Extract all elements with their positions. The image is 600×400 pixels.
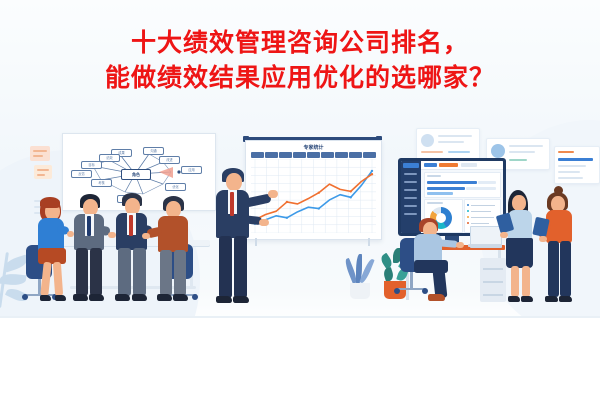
mindmap-node-3: 反馈 [71, 170, 92, 178]
woman-7-shoe-b [521, 296, 533, 302]
profile-card-center-avatar [491, 144, 505, 158]
title-line-2: 能做绩效结果应用优化的选哪家？ [0, 61, 600, 96]
board-header-cell [279, 152, 292, 158]
woman-7-leg-a [511, 266, 519, 297]
sticky-note-1-line-a [33, 150, 47, 152]
list-card-right-line-2 [558, 171, 580, 173]
woman-1-torso [38, 218, 64, 252]
woman-7-leg-b [522, 266, 530, 297]
chair-right-wheel-b [192, 294, 198, 300]
chair-left-wheel-a [22, 294, 28, 300]
man-2-hand [108, 232, 116, 238]
list-card-right-title [558, 151, 574, 153]
man-2-leg-a [76, 248, 88, 296]
man-4-shoe-a [157, 294, 172, 301]
profile-card-left-line-2 [438, 141, 464, 143]
sidebar-item-4[interactable] [404, 205, 417, 207]
woman-1-hand [67, 231, 74, 237]
profile-card-left-avatar [421, 134, 434, 147]
legend-dot-1 [467, 210, 469, 212]
progress-bar-0 [427, 181, 477, 184]
mindmap-node-2: 目标 [81, 161, 102, 169]
mindmap-node-7: 改进 [159, 156, 180, 164]
floor [0, 318, 600, 400]
desk-chair-wheel-a [394, 288, 400, 294]
page-title: 十大绩效管理咨询公司排名， 能做绩效结果应用优化的选哪家？ [0, 26, 600, 95]
list-card-right-bar [558, 158, 593, 161]
man-2-shoe-b [89, 294, 104, 301]
progress-bar-2 [427, 192, 453, 195]
sidebar-item-1[interactable] [404, 181, 417, 183]
desk-man-shoe [428, 294, 445, 301]
sidebar-item-3[interactable] [404, 197, 417, 199]
laptop-base [468, 244, 502, 247]
desktop-dashboard[interactable] [398, 158, 506, 236]
list-card-right-line-3 [558, 177, 583, 179]
sticky-note-1 [30, 146, 50, 161]
file-cabinet-line-1 [483, 268, 503, 270]
profile-card-left-line-3 [421, 151, 443, 153]
man-4-torso [158, 216, 188, 252]
man-3-tie [129, 215, 133, 236]
board-header-cell [321, 152, 334, 158]
woman-7-head [512, 195, 526, 211]
tab-overview[interactable] [424, 163, 437, 167]
mindmap-node-center: 角色 [121, 169, 151, 180]
tab-performance[interactable] [439, 163, 458, 167]
presenter-tie [230, 192, 234, 216]
legend-dot-3 [467, 222, 469, 224]
mindmap-arrow [159, 167, 173, 178]
presenter-head [226, 173, 242, 191]
man-4-hand [142, 233, 150, 239]
woman-1-hair-front [40, 197, 60, 208]
board-header-cell [265, 152, 278, 158]
man-3-shoe-b [132, 294, 147, 301]
man-4-leg-b [174, 250, 186, 296]
sidebar-item-2[interactable] [404, 189, 417, 191]
legend-line-2 [471, 217, 494, 218]
dashboard-logo [403, 163, 419, 168]
man-3-shoe-a [115, 294, 130, 301]
sticky-note-2-line-a [37, 169, 49, 171]
desk-chair-wheel-b [422, 288, 428, 294]
woman-8-leg-b [560, 241, 571, 297]
tab-detail[interactable] [461, 163, 477, 167]
presenter-shoe-b [233, 296, 249, 303]
donut-card-title [427, 202, 443, 204]
woman-8-shoe-a [545, 296, 558, 302]
list-card-right-line-1 [558, 165, 586, 167]
board-title: 专家统计 [246, 144, 381, 151]
man-3-leg-b [133, 248, 146, 296]
progress-bar-1 [427, 187, 465, 190]
sticky-note-1-line-b [33, 155, 43, 157]
board-header-cell [349, 152, 362, 158]
sidebar-item-0[interactable] [404, 173, 417, 175]
profile-card-center-line-2 [509, 151, 535, 153]
board-header-cell [293, 152, 306, 158]
woman-8-hand [539, 236, 547, 242]
plant-blue-white-pot [350, 283, 370, 299]
presenter-hand-raised [268, 190, 278, 198]
monitor-screen [401, 161, 503, 233]
board-header-row [251, 152, 376, 158]
man-4-shoe-b [173, 294, 188, 301]
woman-8-shoe-b [559, 296, 572, 302]
woman-8-leg-a [548, 241, 559, 297]
floor-line [0, 316, 600, 318]
man-4-leg-a [160, 250, 172, 296]
board-header-cell [363, 152, 376, 158]
man-3-leg-a [118, 248, 131, 296]
profile-card-center-line-1 [509, 145, 543, 147]
desk-man-hand [456, 242, 464, 248]
profile-card-left-line-4 [448, 151, 470, 153]
poster-canvas: 十大绩效管理咨询公司排名， 能做绩效结果应用优化的选哪家？ 角色 成果 绩效 目… [0, 0, 600, 400]
mindmap-node-9: 优化 [165, 183, 186, 191]
board-legs [251, 238, 374, 246]
profile-card-center-line-3 [509, 159, 527, 161]
man-2-leg-b [90, 248, 102, 296]
sidebar-item-5[interactable] [404, 213, 417, 215]
desk-chair-pole [410, 272, 413, 288]
board-header-cell [335, 152, 348, 158]
presenter-leg-b [234, 236, 247, 298]
presenter-leg-a [219, 236, 232, 298]
woman-7-skirt [506, 238, 533, 268]
mindmap-node-6: 沟通 [143, 147, 164, 155]
donut-chart-hole [436, 213, 446, 223]
file-cabinet-line-3 [483, 294, 503, 296]
mindmap-node-4: 考核 [91, 179, 112, 187]
legend-dot-2 [467, 216, 469, 218]
progress-bar-1-rest [466, 187, 496, 190]
woman-1-shoe-b [55, 295, 66, 301]
sticky-note-2-line-b [37, 174, 45, 176]
progress-bar-0-rest [478, 181, 496, 184]
desk-chair-cross [397, 288, 425, 290]
legend-line-1 [471, 211, 491, 212]
title-line-1: 十大绩效管理咨询公司排名， [0, 26, 600, 61]
legend-line-3 [471, 223, 489, 224]
sticky-note-2 [34, 165, 52, 179]
woman-1-shoe-a [40, 295, 51, 301]
man-2-tie [87, 216, 91, 236]
woman-1-skirt [38, 248, 66, 264]
file-cabinet-line-2 [483, 281, 503, 283]
progress-card-label [427, 175, 441, 177]
mindmap-node-8: 应用 [181, 166, 202, 174]
mindmap-node-1: 绩效 [99, 154, 120, 162]
legend-line-0 [471, 205, 495, 206]
presenter-hand-front [259, 219, 269, 226]
legend-dot-0 [467, 204, 469, 206]
woman-7-shoe-a [508, 296, 520, 302]
presenter-shoe-a [216, 296, 232, 303]
man-2-shoe-a [73, 294, 88, 301]
profile-card-left-line-1 [438, 135, 472, 137]
board-header-cell [251, 152, 264, 158]
board-header-cell [307, 152, 320, 158]
